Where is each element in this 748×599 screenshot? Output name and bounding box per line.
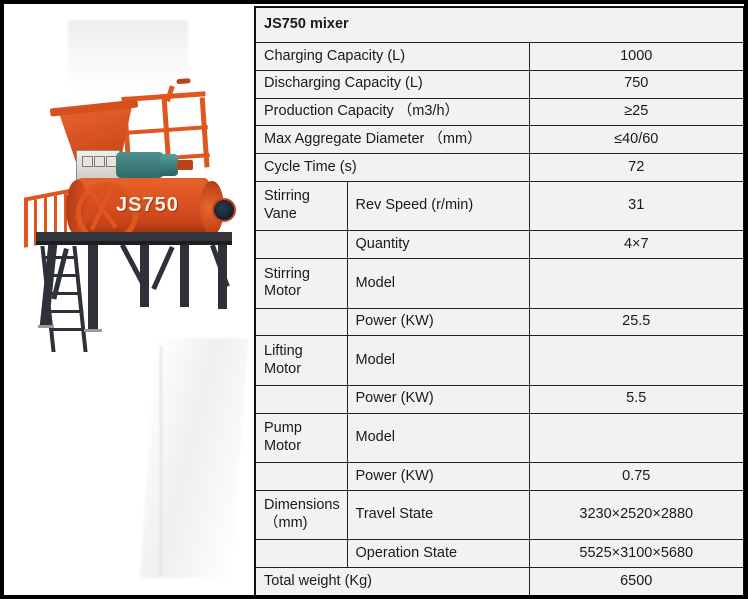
spec-label: Production Capacity （m3/h） (255, 98, 529, 126)
spec-label: Max Aggregate Diameter （mm） (255, 126, 529, 154)
table-row: Power (KW) 5.5 (255, 385, 744, 413)
spec-label: Cycle Time (s) (255, 154, 529, 182)
spec-group-label (255, 463, 347, 491)
table-row: Pump Motor Model (255, 413, 744, 462)
table-row: Power (KW) 0.75 (255, 463, 744, 491)
support-platform (36, 232, 232, 241)
support-leg (88, 245, 98, 329)
table-title: JS750 mixer (255, 7, 744, 43)
spec-sub-label: Power (KW) (347, 463, 529, 491)
motor-shaft-icon (177, 160, 193, 170)
spec-value: 5.5 (529, 385, 744, 413)
spec-label: Charging Capacity (L) (255, 43, 529, 71)
spec-sub-label: Operation State (347, 540, 529, 568)
motor-fan-icon (160, 154, 178, 176)
table-row: Charging Capacity (L) 1000 (255, 43, 744, 71)
spec-value: 72 (529, 154, 744, 182)
spec-group-label (255, 231, 347, 259)
spec-value: 4×7 (529, 231, 744, 259)
drum-model-label: JS750 (116, 194, 179, 217)
spec-sub-label: Quantity (347, 231, 529, 259)
leg-foot (84, 329, 102, 332)
spec-value: ≥25 (529, 98, 744, 126)
paper-artifact-top (68, 20, 188, 90)
spec-sub-label: Model (347, 413, 529, 462)
specification-table: JS750 mixer Charging Capacity (L) 1000 D… (254, 6, 745, 597)
spec-value: 5525×3100×5680 (529, 540, 744, 568)
product-spec-page: JS750 (0, 0, 748, 599)
table-row: Total weight (Kg) 6500 (255, 568, 744, 597)
drive-motor-icon (116, 152, 164, 178)
table-row: Cycle Time (s) 72 (255, 154, 744, 182)
spec-sub-label: Power (KW) (347, 308, 529, 336)
spec-value: 750 (529, 70, 744, 98)
spec-group-label (255, 540, 347, 568)
spec-sub-label: Model (347, 336, 529, 385)
spec-group-label: Dimensions（mm) (255, 490, 347, 539)
spec-value: 6500 (529, 568, 744, 597)
table-row: Dimensions（mm) Travel State 3230×2520×28… (255, 490, 744, 539)
spec-label: Discharging Capacity (L) (255, 70, 529, 98)
support-leg (180, 245, 189, 307)
table-row: Power (KW) 25.5 (255, 308, 744, 336)
table-row: Discharging Capacity (L) 750 (255, 70, 744, 98)
mixer-illustration: JS750 (20, 86, 242, 326)
table-row: Operation State 5525×3100×5680 (255, 540, 744, 568)
spec-value (529, 336, 744, 385)
table-title-row: JS750 mixer (255, 7, 744, 43)
table-row: Quantity 4×7 (255, 231, 744, 259)
spec-group-label: Pump Motor (255, 413, 347, 462)
spec-value: ≤40/60 (529, 126, 744, 154)
spec-value (529, 259, 744, 308)
leg-foot (38, 325, 54, 328)
paper-artifact-line (160, 346, 162, 574)
spec-value: 3230×2520×2880 (529, 490, 744, 539)
spec-value (529, 413, 744, 462)
spec-group-label (255, 308, 347, 336)
spec-value: 0.75 (529, 463, 744, 491)
spec-label: Total weight (Kg) (255, 568, 529, 597)
spec-group-label (255, 385, 347, 413)
spec-sub-label: Rev Speed (r/min) (347, 181, 529, 230)
access-ladder-icon (40, 246, 87, 352)
spec-value: 25.5 (529, 308, 744, 336)
spec-value: 31 (529, 181, 744, 230)
spec-value: 1000 (529, 43, 744, 71)
specification-table-wrapper: JS750 mixer Charging Capacity (L) 1000 D… (254, 6, 748, 599)
paper-artifact-shadow (140, 338, 249, 578)
control-box-icon (76, 150, 120, 180)
spec-sub-label: Travel State (347, 490, 529, 539)
spec-sub-label: Power (KW) (347, 385, 529, 413)
spec-group-label: Lifting Motor (255, 336, 347, 385)
support-brace (151, 246, 174, 290)
drum-hub-icon (212, 198, 236, 222)
table-row: Max Aggregate Diameter （mm） ≤40/60 (255, 126, 744, 154)
support-platform-edge (36, 241, 232, 245)
spec-group-label: Stirring Motor (255, 259, 347, 308)
product-photo-panel: JS750 (8, 8, 254, 599)
spec-group-label: Stirring Vane (255, 181, 347, 230)
table-row: Stirring Motor Model (255, 259, 744, 308)
table-row: Stirring Vane Rev Speed (r/min) 31 (255, 181, 744, 230)
spec-sub-label: Model (347, 259, 529, 308)
table-row: Production Capacity （m3/h） ≥25 (255, 98, 744, 126)
table-row: Lifting Motor Model (255, 336, 744, 385)
